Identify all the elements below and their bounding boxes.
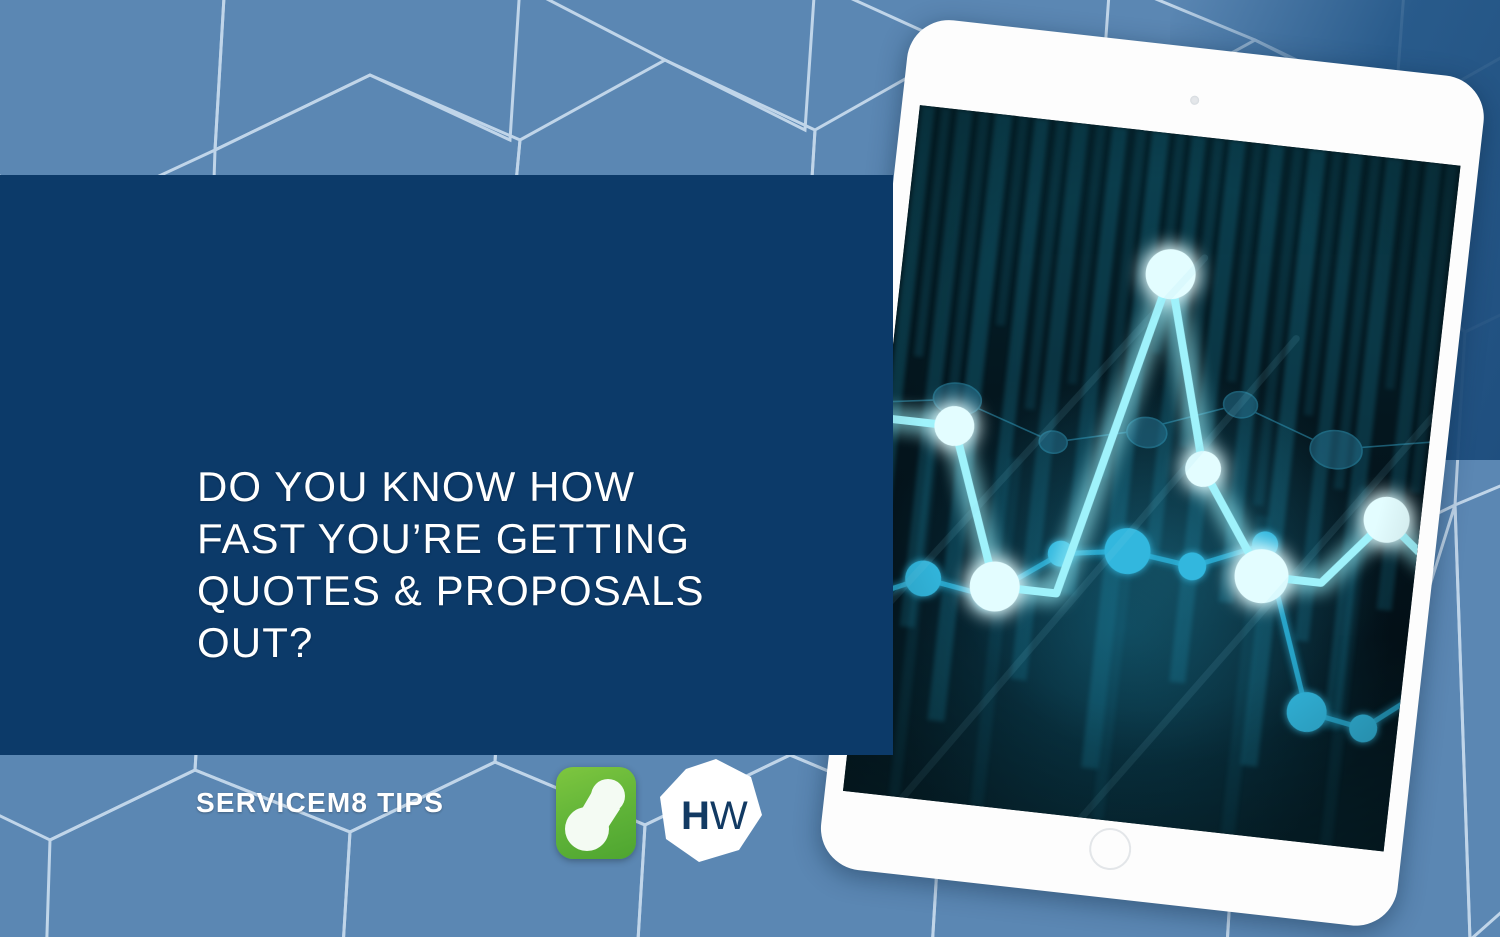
hw-logo-letter-h: H xyxy=(681,794,710,838)
line-chart-graphic xyxy=(843,105,1461,851)
promo-graphic: DO YOU KNOW HOW FAST YOU’RE GETTING QUOT… xyxy=(0,0,1500,937)
hw-logo: H W xyxy=(654,757,764,869)
tablet-bezel xyxy=(817,16,1489,930)
logo-group: H W xyxy=(556,757,764,869)
tagline-text: SERVICEM8 TIPS xyxy=(196,787,444,819)
hw-logo-letter-w: W xyxy=(710,794,748,838)
front-camera-icon xyxy=(1189,95,1199,105)
tablet-screen xyxy=(843,105,1461,851)
servicem8-logo xyxy=(556,767,636,859)
home-button-icon[interactable] xyxy=(1087,826,1133,872)
headline-text: DO YOU KNOW HOW FAST YOU’RE GETTING QUOT… xyxy=(197,461,837,669)
content-panel: DO YOU KNOW HOW FAST YOU’RE GETTING QUOT… xyxy=(0,175,893,755)
